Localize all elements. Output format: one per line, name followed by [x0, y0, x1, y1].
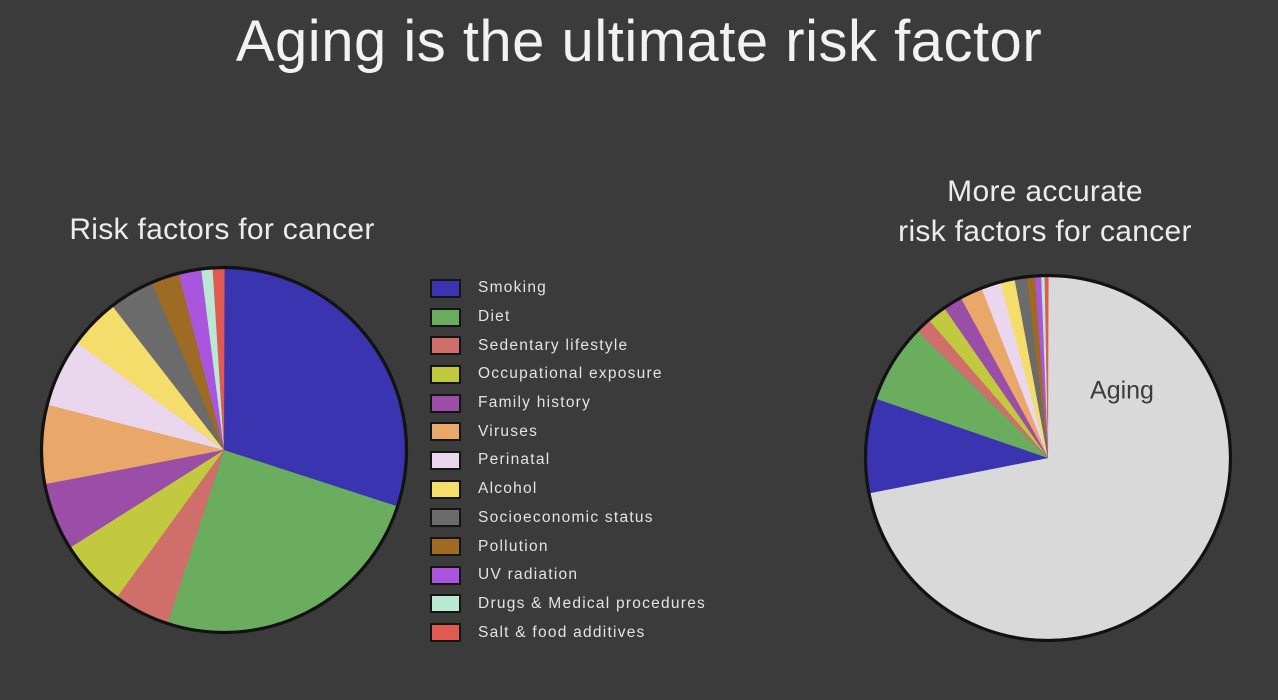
legend: SmokingDietSedentary lifestyleOccupation…	[430, 274, 780, 647]
legend-item-label: Smoking	[478, 279, 547, 297]
legend-item-label: UV radiation	[478, 566, 578, 584]
legend-swatch-icon	[430, 422, 461, 441]
legend-swatch-icon	[430, 480, 461, 499]
legend-swatch-icon	[430, 594, 461, 613]
page-title: Aging is the ultimate risk factor	[0, 8, 1278, 75]
legend-swatch-icon	[430, 279, 461, 298]
legend-item[interactable]: Alcohol	[430, 475, 780, 504]
legend-swatch-icon	[430, 451, 461, 470]
legend-item[interactable]: Smoking	[430, 274, 780, 303]
legend-item[interactable]: Viruses	[430, 417, 780, 446]
legend-item[interactable]: Socioeconomic status	[430, 504, 780, 533]
right-chart-heading: More accurate risk factors for cancer	[845, 172, 1245, 251]
legend-swatch-icon	[430, 394, 461, 413]
right-pie-slices: AgingSmokingDietSedentary lifestyleOccup…	[867, 277, 1229, 639]
legend-swatch-icon	[430, 537, 461, 556]
legend-item-label: Perinatal	[478, 451, 550, 469]
aging-slice-label: Aging	[1090, 377, 1154, 405]
legend-item-label: Diet	[478, 308, 511, 326]
legend-swatch-icon	[430, 566, 461, 585]
right-pie-chart: AgingSmokingDietSedentary lifestyleOccup…	[860, 270, 1236, 646]
legend-item[interactable]: Pollution	[430, 532, 780, 561]
legend-swatch-icon	[430, 365, 461, 384]
legend-item-label: Socioeconomic status	[478, 509, 654, 527]
right-chart-heading-line1: More accurate	[845, 172, 1245, 212]
legend-item-label: Viruses	[478, 423, 538, 441]
legend-item-label: Drugs & Medical procedures	[478, 595, 706, 613]
legend-item-label: Family history	[478, 394, 591, 412]
legend-item-label: Occupational exposure	[478, 365, 663, 383]
legend-swatch-icon	[430, 308, 461, 327]
legend-item[interactable]: Sedentary lifestyle	[430, 331, 780, 360]
legend-item-label: Pollution	[478, 538, 549, 556]
legend-item[interactable]: Perinatal	[430, 446, 780, 475]
right-pie-svg: AgingSmokingDietSedentary lifestyleOccup…	[860, 270, 1236, 646]
right-chart-heading-line2: risk factors for cancer	[845, 212, 1245, 252]
legend-item[interactable]: UV radiation	[430, 561, 780, 590]
legend-item[interactable]: Diet	[430, 303, 780, 332]
legend-item-label: Salt & food additives	[478, 624, 646, 642]
legend-item[interactable]: Drugs & Medical procedures	[430, 590, 780, 619]
legend-item-label: Sedentary lifestyle	[478, 337, 628, 355]
legend-swatch-icon	[430, 336, 461, 355]
legend-item[interactable]: Occupational exposure	[430, 360, 780, 389]
legend-item[interactable]: Salt & food additives	[430, 618, 780, 647]
slide-canvas: Aging is the ultimate risk factor Risk f…	[0, 0, 1278, 700]
legend-item[interactable]: Family history	[430, 389, 780, 418]
left-pie-chart: SmokingDietSedentary lifestyleOccupation…	[36, 262, 412, 638]
left-chart-heading: Risk factors for cancer	[22, 210, 422, 250]
left-pie-slices: SmokingDietSedentary lifestyleOccupation…	[43, 269, 405, 631]
legend-swatch-icon	[430, 623, 461, 642]
legend-item-label: Alcohol	[478, 480, 538, 498]
legend-swatch-icon	[430, 508, 461, 527]
left-pie-svg: SmokingDietSedentary lifestyleOccupation…	[36, 262, 412, 638]
